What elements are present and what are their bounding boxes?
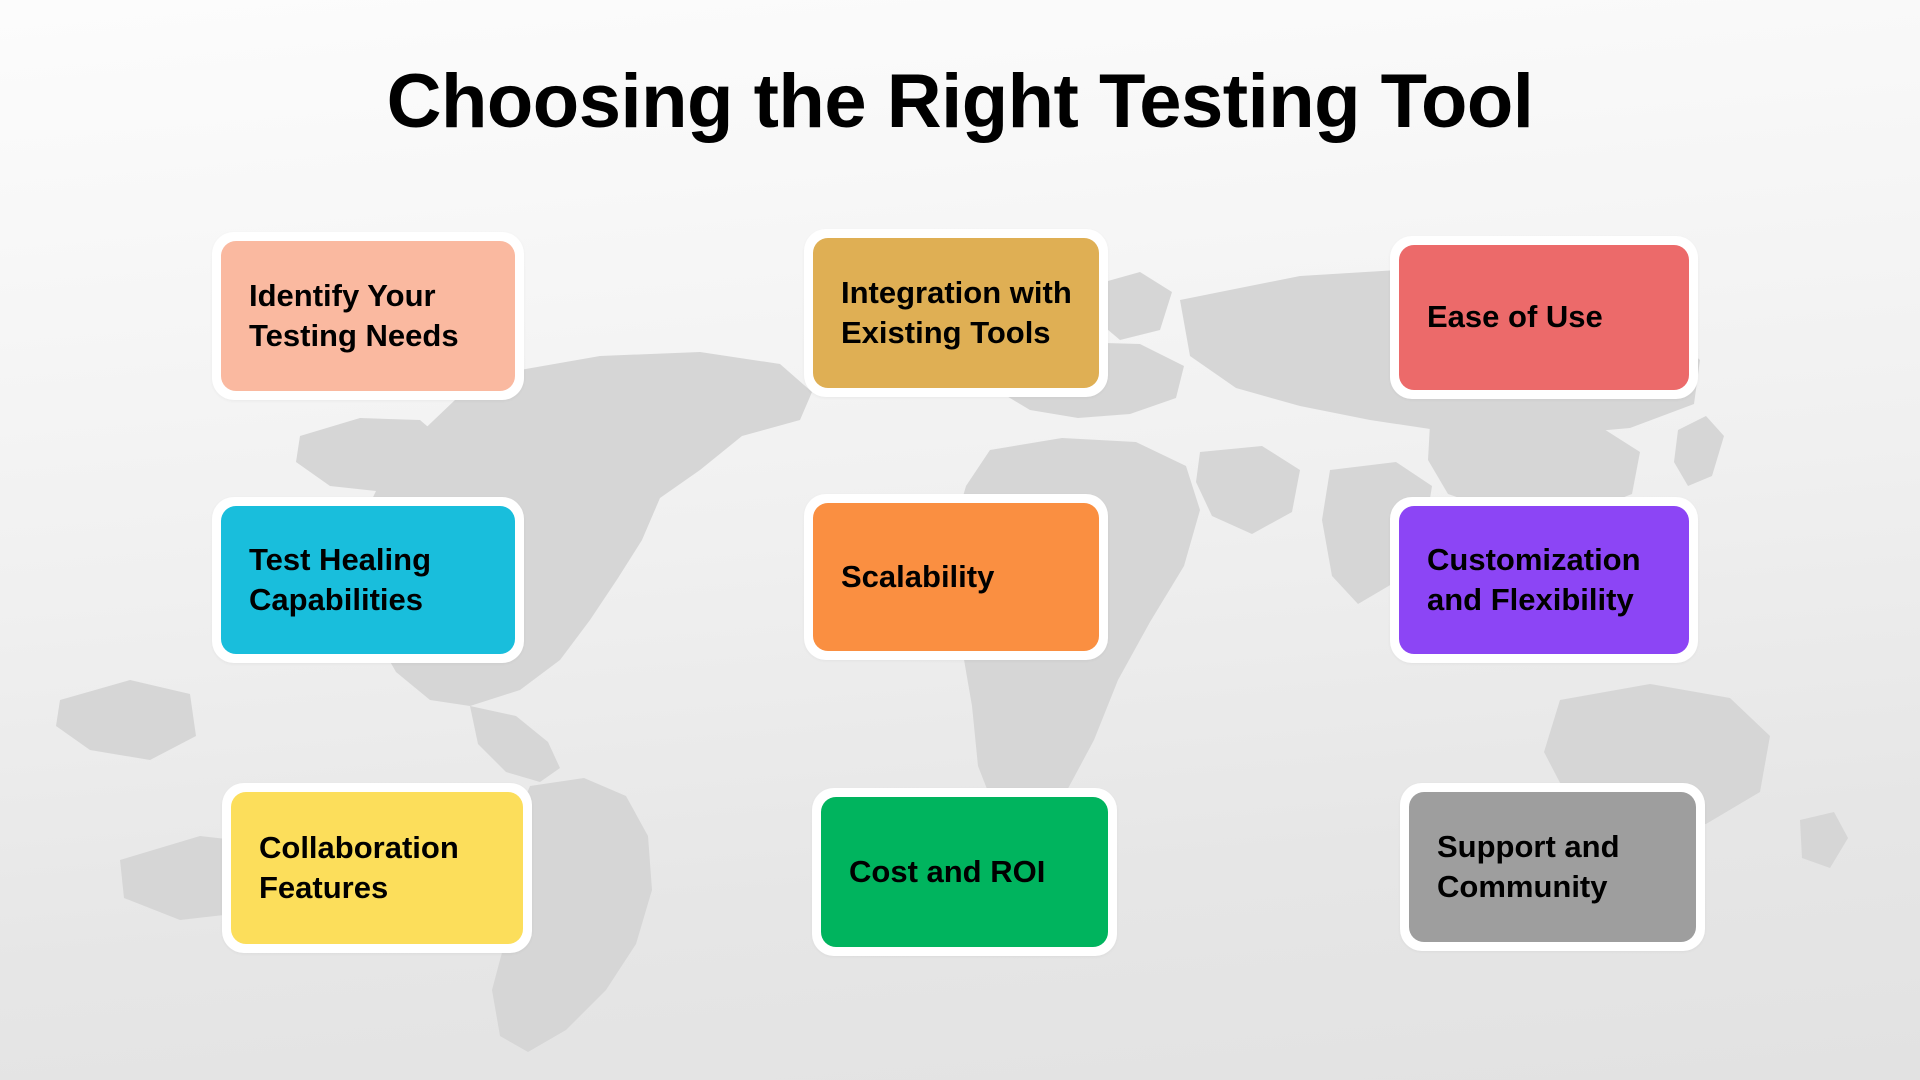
card-body: Support and Community bbox=[1409, 792, 1696, 942]
card-label: Test Healing Capabilities bbox=[249, 540, 431, 621]
card-body: Identify Your Testing Needs bbox=[221, 241, 515, 391]
card-identify-your-testing-needs[interactable]: Identify Your Testing Needs bbox=[212, 232, 524, 400]
card-integration-with-existing-tools[interactable]: Integration with Existing Tools bbox=[804, 229, 1108, 397]
card-body: Cost and ROI bbox=[821, 797, 1108, 947]
card-customization-and-flexibility[interactable]: Customization and Flexibility bbox=[1390, 497, 1698, 663]
card-body: Collaboration Features bbox=[231, 792, 523, 944]
card-label: Collaboration Features bbox=[259, 828, 459, 909]
card-body: Integration with Existing Tools bbox=[813, 238, 1099, 388]
card-test-healing-capabilities[interactable]: Test Healing Capabilities bbox=[212, 497, 524, 663]
card-body: Ease of Use bbox=[1399, 245, 1689, 390]
card-collaboration-features[interactable]: Collaboration Features bbox=[222, 783, 532, 953]
card-label: Support and Community bbox=[1437, 827, 1620, 908]
card-label: Ease of Use bbox=[1427, 297, 1603, 337]
infographic-slide: Choosing the Right Testing Tool Identify… bbox=[0, 0, 1920, 1080]
card-scalability[interactable]: Scalability bbox=[804, 494, 1108, 660]
card-cost-and-roi[interactable]: Cost and ROI bbox=[812, 788, 1117, 956]
card-label: Cost and ROI bbox=[849, 852, 1045, 892]
card-label: Customization and Flexibility bbox=[1427, 540, 1641, 621]
card-body: Test Healing Capabilities bbox=[221, 506, 515, 654]
card-label: Integration with Existing Tools bbox=[841, 273, 1072, 354]
card-body: Customization and Flexibility bbox=[1399, 506, 1689, 654]
card-label: Scalability bbox=[841, 557, 994, 597]
card-support-and-community[interactable]: Support and Community bbox=[1400, 783, 1705, 951]
card-label: Identify Your Testing Needs bbox=[249, 276, 459, 357]
card-body: Scalability bbox=[813, 503, 1099, 651]
page-title: Choosing the Right Testing Tool bbox=[0, 58, 1920, 145]
card-ease-of-use[interactable]: Ease of Use bbox=[1390, 236, 1698, 399]
